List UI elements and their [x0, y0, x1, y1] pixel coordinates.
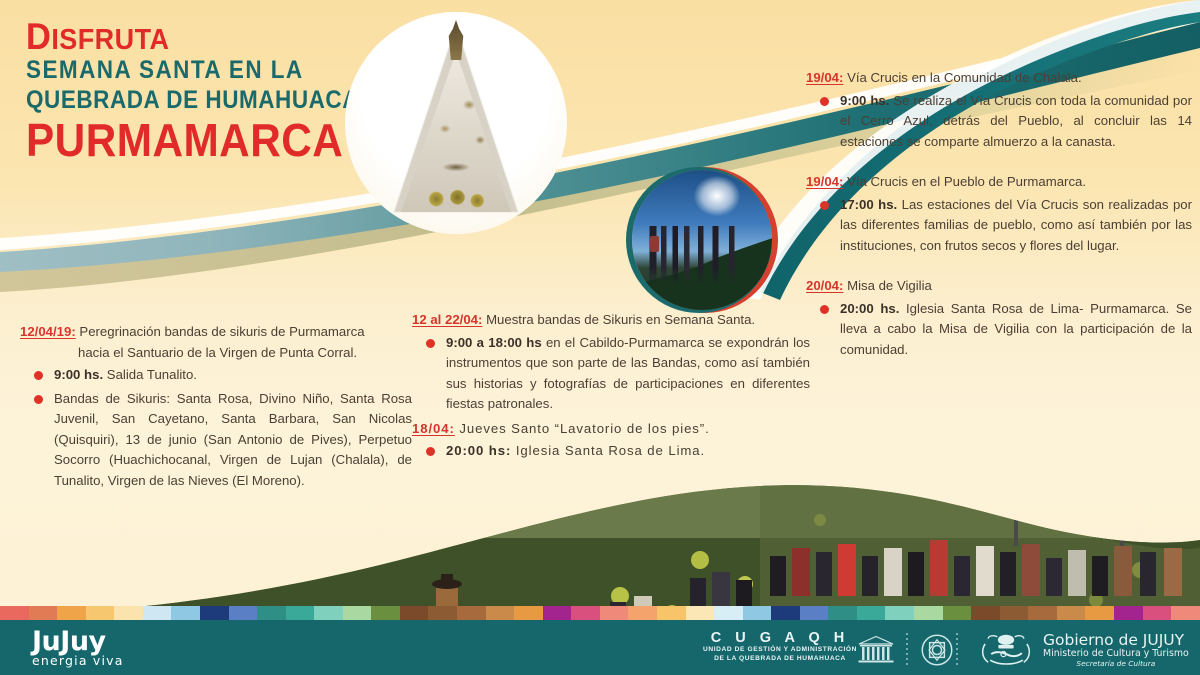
- title-line-semana-santa: SEMANA SANTA EN LA: [26, 55, 323, 85]
- entry-title: Peregrinación bandas de sikuris de Purma…: [79, 324, 364, 339]
- color-strip-block: [914, 606, 943, 620]
- gobierno-emblem-icon: [978, 633, 1034, 667]
- bullet-time: 9:00 a 18:00 hs: [446, 335, 542, 350]
- color-strip-block: [114, 606, 143, 620]
- color-strip-block: [457, 606, 486, 620]
- list-item: 20:00 hs: Iglesia Santa Rosa de Lima.: [412, 441, 810, 462]
- color-strip-block: [171, 606, 200, 620]
- bullet-time: 9:00 hs.: [54, 367, 103, 382]
- title-disfruta-rest: ISFRUTA: [51, 24, 169, 56]
- entry-header: 18/04: Jueves Santo “Lavatorio de los pi…: [412, 419, 810, 440]
- entry-date: 20/04:: [806, 278, 843, 293]
- color-strip-block: [885, 606, 914, 620]
- cugaqh-line1: UNIDAD DE GESTIÓN Y ADMINISTRACIÓN: [703, 646, 857, 655]
- bullet-time: 20:00 hs:: [446, 443, 511, 458]
- gobierno-jujuy-logo: Gobierno de JUJUY Ministerio de Cultura …: [978, 632, 1189, 668]
- divider-dots: [905, 632, 909, 666]
- entry-date: 19/04:: [806, 174, 843, 189]
- list-item: 9:00 a 18:00 hs en el Cabildo-Purmamarca…: [412, 333, 810, 415]
- entry-title: Misa de Vigilia: [847, 278, 932, 293]
- schedule-entry: 19/04: Vía Crucis en la Comunidad de Cha…: [806, 68, 1192, 152]
- cugaqh-acronym: C U G A Q H: [703, 630, 857, 646]
- jujuy-logo: JuJuy energia viva: [32, 628, 124, 668]
- color-strip-block: [971, 606, 1000, 620]
- cugaqh-line2: DE LA QUEBRADA DE HUMAHUACA: [703, 655, 857, 664]
- color-strip-block: [257, 606, 286, 620]
- color-strip-block: [286, 606, 315, 620]
- color-strip-block: [600, 606, 629, 620]
- entry-header: 12 al 22/04: Muestra bandas de Sikuris e…: [412, 310, 810, 331]
- schedule-entry: 19/04: Vía Crucis en el Pueblo de Purmam…: [806, 172, 1192, 256]
- color-strip-block: [857, 606, 886, 620]
- title-line-disfruta: DISFRUTA: [26, 22, 333, 55]
- color-strip: [0, 606, 1200, 620]
- jujuy-logo-main: JuJuy: [32, 628, 124, 656]
- color-strip-block: [486, 606, 515, 620]
- bullet-text: Salida Tunalito.: [103, 367, 197, 382]
- gobierno-secretaria: Secretaría de Cultura: [1043, 659, 1189, 668]
- color-strip-block: [743, 606, 772, 620]
- title-line-quebrada: QUEBRADA DE HUMAHUACA: [26, 85, 323, 115]
- color-strip-block: [29, 606, 58, 620]
- entry-title: Muestra bandas de Sikuris en Semana Sant…: [486, 312, 755, 327]
- bullet-time: 20:00 hs.: [840, 301, 899, 316]
- footer-bar: JuJuy energia viva C U G A Q H UNIDAD DE…: [0, 620, 1200, 675]
- color-strip-block: [343, 606, 372, 620]
- bullet-text: Bandas de Sikuris: Santa Rosa, Divino Ni…: [54, 391, 412, 488]
- color-strip-block: [800, 606, 829, 620]
- entry-bullet-list: 20:00 hs. Iglesia Santa Rosa de Lima- Pu…: [806, 299, 1192, 361]
- color-strip-block: [143, 606, 172, 620]
- pilgrim-silhouettes: [646, 226, 761, 285]
- title-line-purmamarca: PURMAMARCA: [26, 115, 330, 165]
- color-strip-block: [1085, 606, 1114, 620]
- schedule-entry: 12 al 22/04: Muestra bandas de Sikuris e…: [412, 310, 810, 415]
- color-strip-block: [400, 606, 429, 620]
- bullet-time: 17:00 hs.: [840, 197, 897, 212]
- entry-title: Vía Crucis en la Comunidad de Chalala.: [847, 70, 1082, 85]
- color-strip-block: [686, 606, 715, 620]
- color-strip-block: [428, 606, 457, 620]
- list-item: Bandas de Sikuris: Santa Rosa, Divino Ni…: [20, 389, 412, 492]
- color-strip-block: [657, 606, 686, 620]
- schedule-column-left: 12/04/19: Peregrinación bandas de sikuri…: [20, 322, 412, 495]
- entry-date: 12/04/19:: [20, 324, 76, 339]
- entry-header: 19/04: Vía Crucis en la Comunidad de Cha…: [806, 68, 1192, 89]
- color-strip-block: [771, 606, 800, 620]
- entry-header: 20/04: Misa de Vigilia: [806, 276, 1192, 297]
- color-strip-block: [1000, 606, 1029, 620]
- entry-header: 12/04/19: Peregrinación bandas de sikuri…: [20, 322, 412, 363]
- pilgrims-on-hill-photo: [632, 170, 772, 310]
- bullet-text: Se realiza el Vía Crucis con toda la com…: [840, 93, 1192, 149]
- bullet-dot-icon: [426, 339, 435, 348]
- color-strip-block: [200, 606, 229, 620]
- entry-title: Vía Crucis en el Pueblo de Purmamarca.: [847, 174, 1086, 189]
- color-strip-block: [571, 606, 600, 620]
- list-item: 9:00 hs. Salida Tunalito.: [20, 365, 412, 386]
- schedule-entry: 12/04/19: Peregrinación bandas de sikuri…: [20, 322, 412, 491]
- list-item: 9:00 hs. Se realiza el Vía Crucis con to…: [806, 91, 1192, 153]
- color-strip-block: [514, 606, 543, 620]
- schedule-column-right: 19/04: Vía Crucis en la Comunidad de Cha…: [806, 68, 1192, 364]
- bullet-time: 9:00 hs.: [840, 93, 889, 108]
- entry-bullet-list: 17:00 hs. Las estaciones del Vía Crucis …: [806, 195, 1192, 257]
- color-strip-block: [714, 606, 743, 620]
- poster-root: DISFRUTA SEMANA SANTA EN LA QUEBRADA DE …: [0, 0, 1200, 675]
- color-strip-block: [628, 606, 657, 620]
- sun-glare: [694, 176, 740, 216]
- entry-bullet-list: 20:00 hs: Iglesia Santa Rosa de Lima.: [412, 441, 810, 462]
- color-strip-block: [371, 606, 400, 620]
- jujuy-logo-tagline: energia viva: [32, 654, 124, 668]
- schedule-column-middle: 12 al 22/04: Muestra bandas de Sikuris e…: [412, 310, 810, 466]
- bullet-dot-icon: [34, 395, 43, 404]
- pilgrim-red-backpack: [650, 236, 659, 252]
- virgen-punta-corral-photo: [345, 12, 567, 234]
- bullet-dot-icon: [426, 447, 435, 456]
- divider-dots: [955, 632, 959, 666]
- entry-title: Jueves Santo “Lavatorio de los pies”.: [459, 421, 709, 436]
- virgen-flowers: [418, 182, 494, 216]
- entry-bullet-list: 9:00 hs. Se realiza el Vía Crucis con to…: [806, 91, 1192, 153]
- color-strip-block: [57, 606, 86, 620]
- color-strip-block: [86, 606, 115, 620]
- bullet-dot-icon: [820, 305, 829, 314]
- color-strip-block: [828, 606, 857, 620]
- bullet-dot-icon: [820, 97, 829, 106]
- entry-bullet-list: 9:00 a 18:00 hs en el Cabildo-Purmamarca…: [412, 333, 810, 415]
- world-heritage-icon: [920, 633, 954, 667]
- color-strip-block: [1171, 606, 1200, 620]
- bullet-dot-icon: [34, 371, 43, 380]
- entry-header: 19/04: Vía Crucis en el Pueblo de Purmam…: [806, 172, 1192, 193]
- entry-bullet-list: 9:00 hs. Salida Tunalito. Bandas de Siku…: [20, 365, 412, 491]
- unesco-icon: [856, 635, 896, 665]
- color-strip-block: [1028, 606, 1057, 620]
- color-strip-block: [543, 606, 572, 620]
- list-item: 17:00 hs. Las estaciones del Vía Crucis …: [806, 195, 1192, 257]
- entry-date: 12 al 22/04:: [412, 312, 482, 327]
- color-strip-block: [1057, 606, 1086, 620]
- color-strip-block: [943, 606, 972, 620]
- bullet-text: Iglesia Santa Rosa de Lima.: [511, 443, 705, 458]
- color-strip-block: [0, 606, 29, 620]
- cugaqh-logo: C U G A Q H UNIDAD DE GESTIÓN Y ADMINIST…: [703, 630, 857, 663]
- schedule-entry: 20/04: Misa de Vigilia 20:00 hs. Iglesia…: [806, 276, 1192, 360]
- bullet-dot-icon: [820, 201, 829, 210]
- color-strip-block: [1143, 606, 1172, 620]
- list-item: 20:00 hs. Iglesia Santa Rosa de Lima- Pu…: [806, 299, 1192, 361]
- title-disfruta-capital: D: [26, 16, 51, 57]
- color-strip-block: [314, 606, 343, 620]
- gobierno-title: Gobierno de JUJUY: [1043, 632, 1189, 648]
- color-strip-block: [1114, 606, 1143, 620]
- color-strip-block: [229, 606, 258, 620]
- entry-date: 19/04:: [806, 70, 843, 85]
- gobierno-subtitle: Ministerio de Cultura y Turismo: [1043, 648, 1189, 659]
- entry-title-cont: hacia el Santuario de la Virgen de Punta…: [20, 343, 412, 364]
- poster-title-block: DISFRUTA SEMANA SANTA EN LA QUEBRADA DE …: [26, 22, 356, 165]
- schedule-entry: 18/04: Jueves Santo “Lavatorio de los pi…: [412, 419, 810, 462]
- entry-date: 18/04:: [412, 421, 455, 436]
